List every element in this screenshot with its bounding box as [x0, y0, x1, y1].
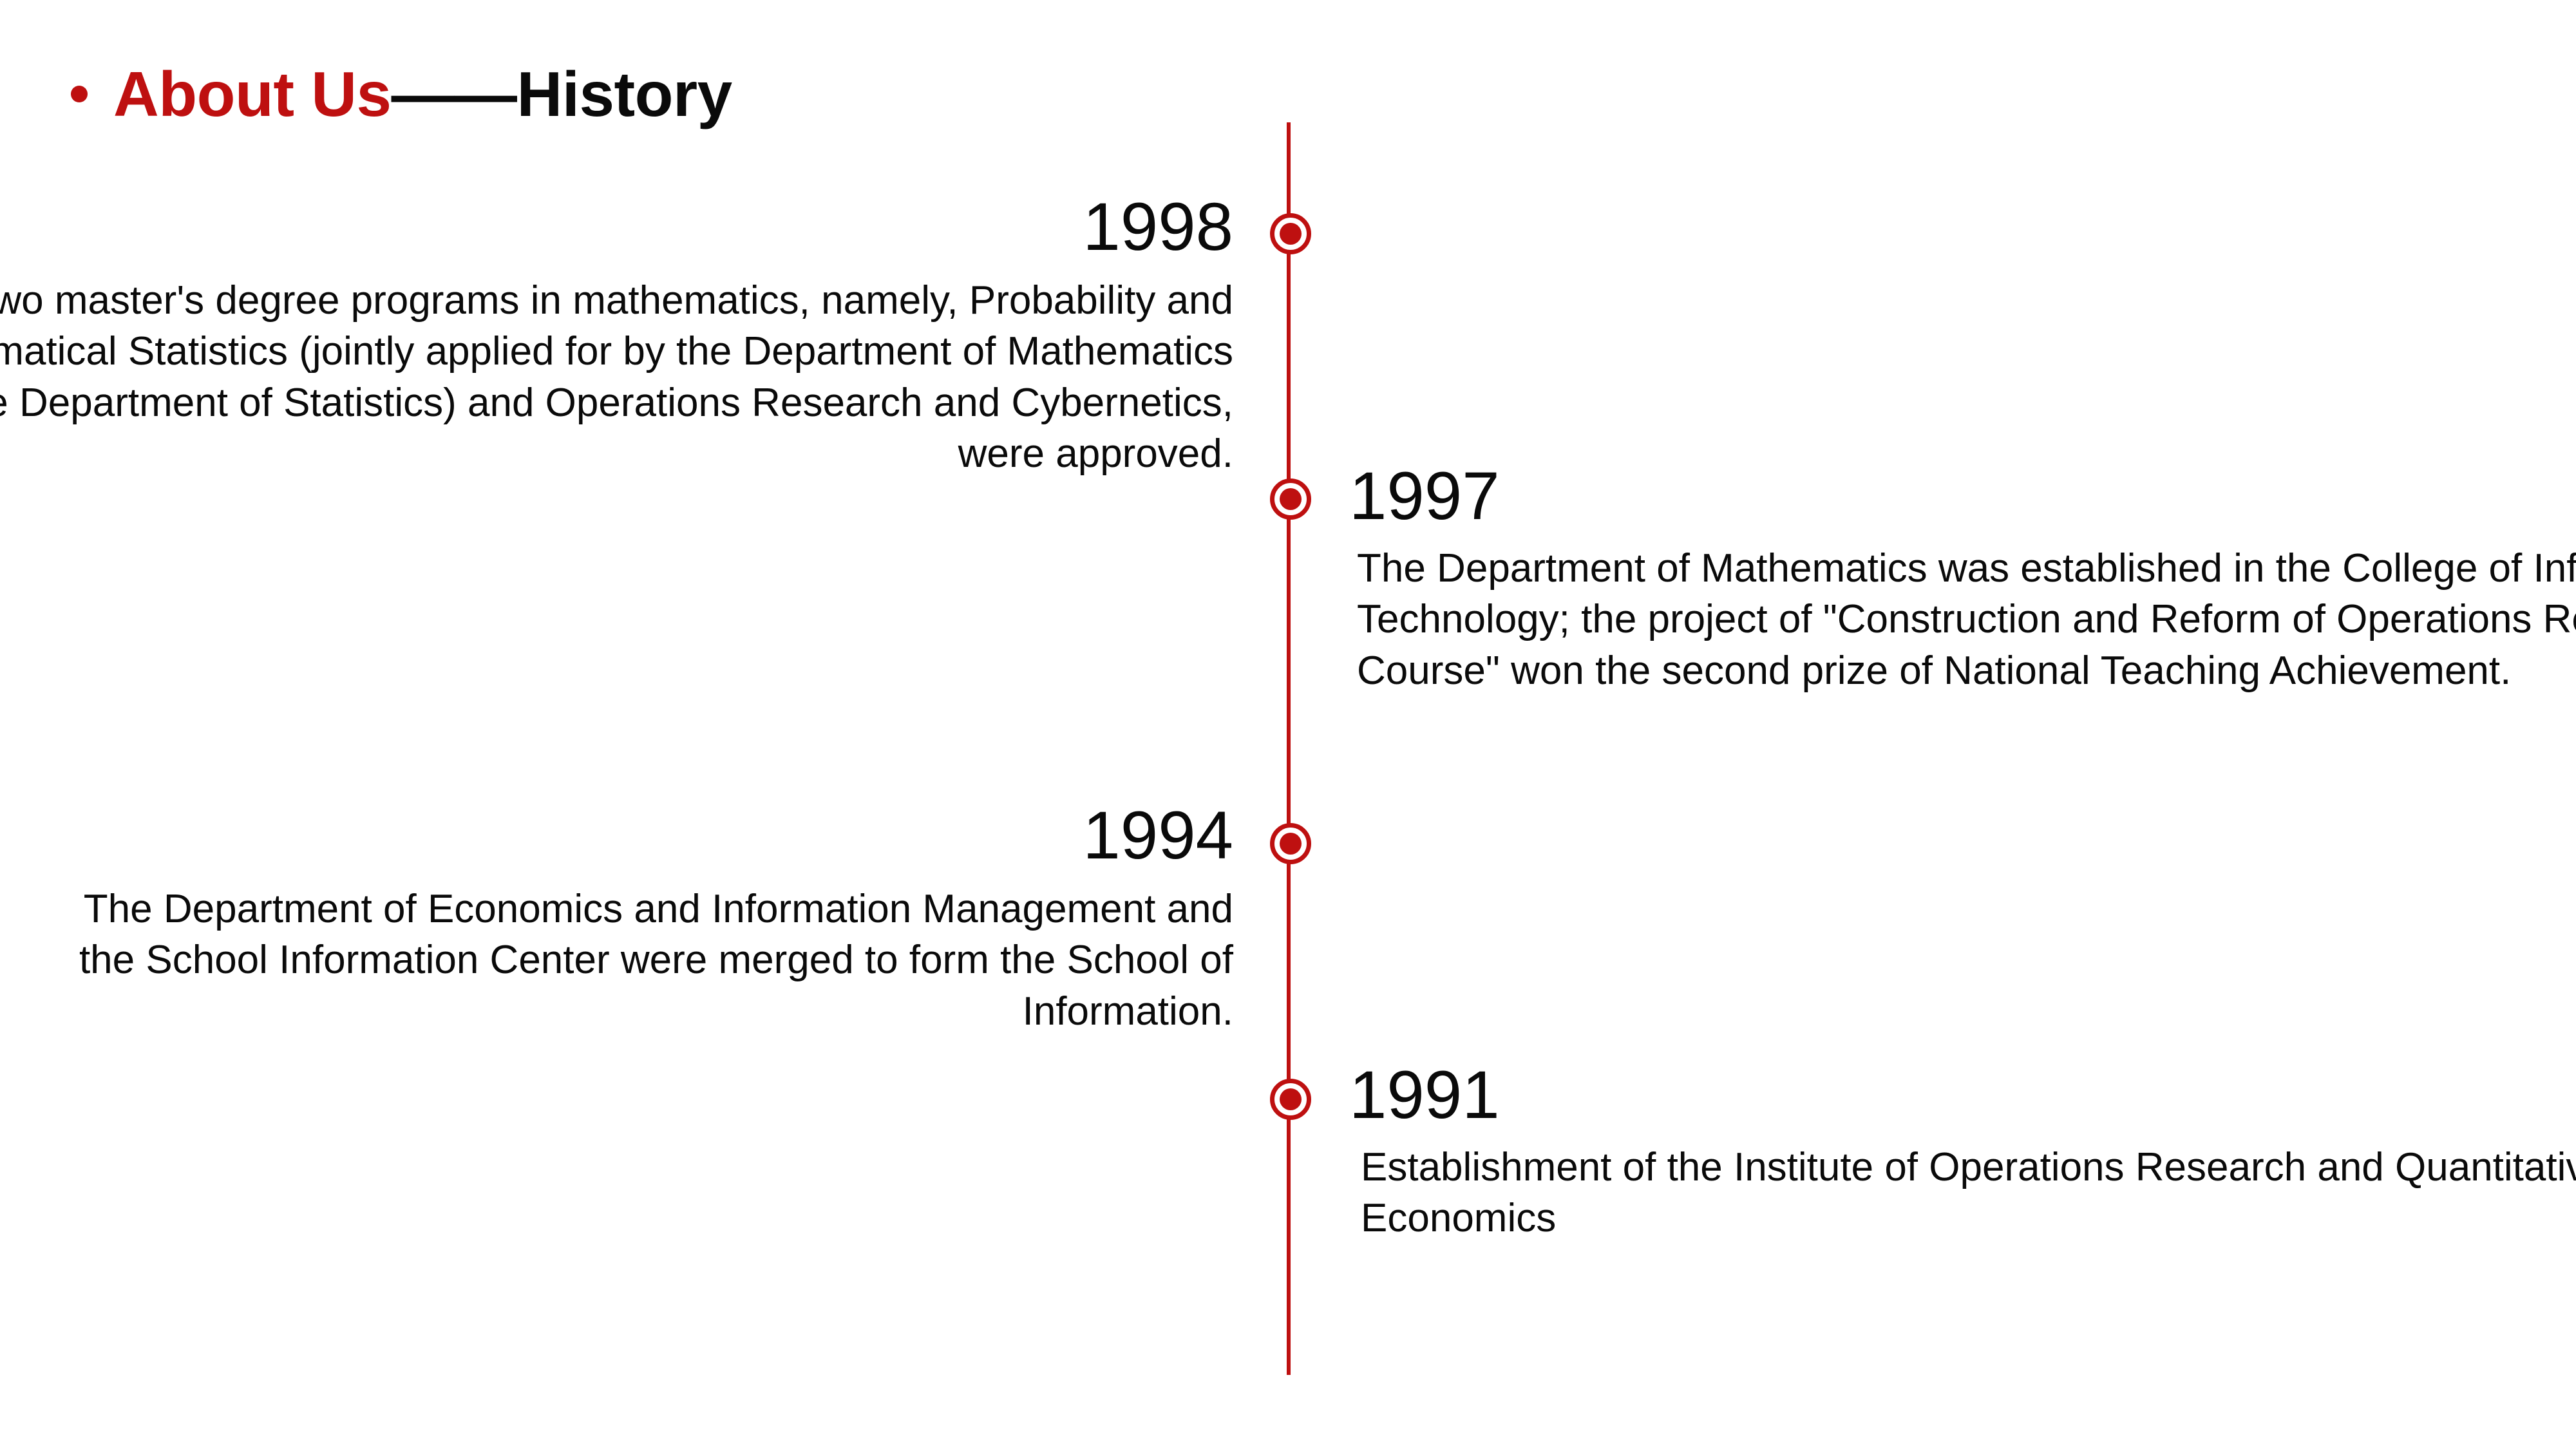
timeline-entry-1998: 1998 Two master's degree programs in mat…	[0, 193, 1233, 479]
slide-canvas: About Us——History 1998 Two master's degr…	[0, 0, 2576, 1449]
timeline-entry-1991: 1991 Establishment of the Institute of O…	[1349, 1061, 2576, 1244]
page-title-secondary: ——History	[392, 59, 732, 129]
timeline-description-1991: Establishment of the Institute of Operat…	[1361, 1142, 2576, 1244]
timeline-year-1994: 1994	[77, 802, 1233, 869]
timeline-marker-1991[interactable]	[1270, 1079, 1311, 1120]
bullet-dot-icon	[71, 86, 88, 102]
timeline-marker-1994[interactable]	[1270, 823, 1311, 864]
timeline-description-1997: The Department of Mathematics was establ…	[1357, 543, 2576, 696]
page-title-primary: About Us	[113, 59, 392, 129]
page-title: About Us——History	[71, 61, 732, 128]
timeline-entry-1997: 1997 The Department of Mathematics was e…	[1349, 462, 2576, 696]
timeline-description-1994: The Department of Economics and Informat…	[77, 884, 1233, 1037]
page-title-text: About Us——History	[113, 61, 732, 128]
timeline-entry-1994: 1994 The Department of Economics and Inf…	[77, 802, 1233, 1037]
timeline-year-1991: 1991	[1349, 1061, 2576, 1129]
timeline-year-1997: 1997	[1349, 462, 2576, 530]
timeline-axis-line	[1287, 122, 1291, 1375]
timeline-year-1998: 1998	[0, 193, 1233, 261]
timeline-description-1998: Two master's degree programs in mathemat…	[0, 275, 1233, 479]
timeline-marker-1998[interactable]	[1270, 213, 1311, 254]
timeline-marker-1997[interactable]	[1270, 478, 1311, 520]
